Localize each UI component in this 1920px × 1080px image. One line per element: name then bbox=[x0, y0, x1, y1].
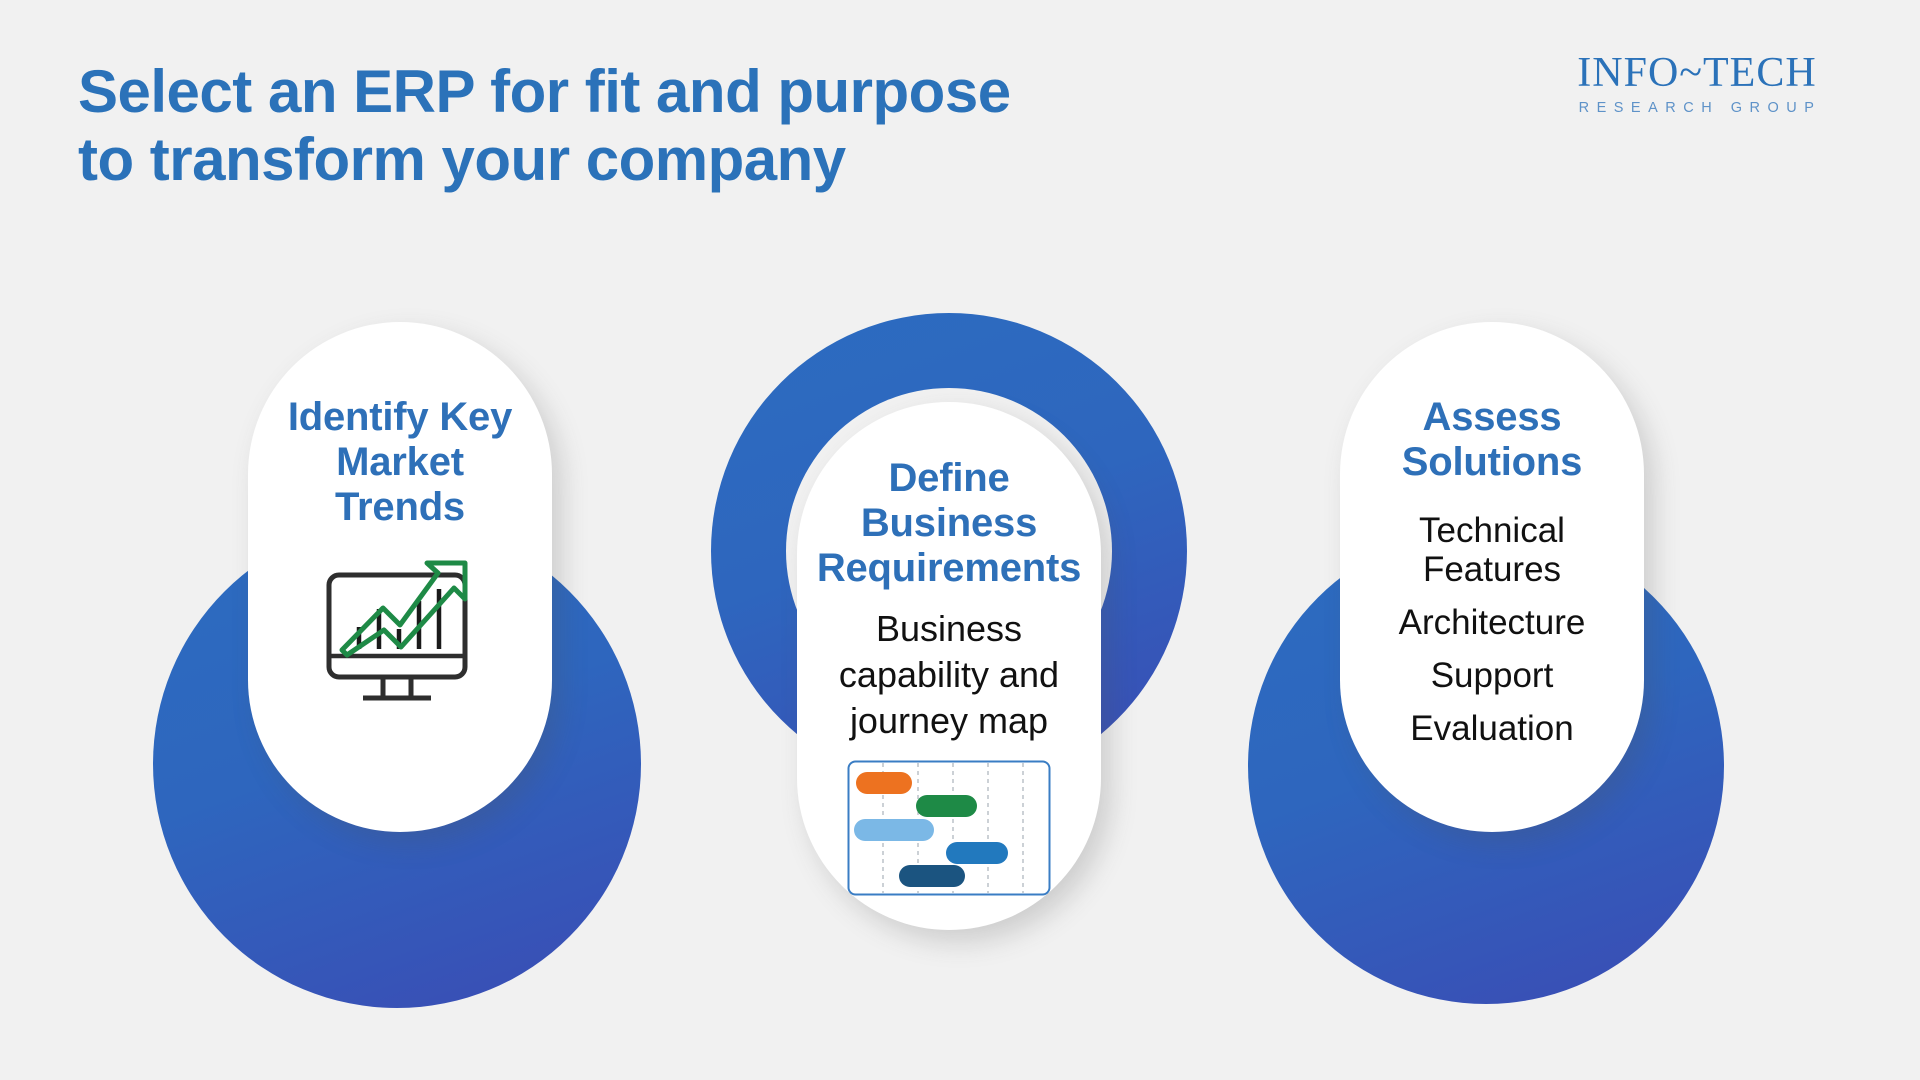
logo-wordmark: INFO~TECH bbox=[1532, 52, 1862, 94]
card-3-list: Technical Features Architecture Support … bbox=[1358, 511, 1626, 763]
logo-tagline: RESEARCH GROUP bbox=[1532, 100, 1862, 116]
page-title-line-1: Select an ERP for fit and purpose bbox=[78, 58, 1398, 126]
logo: INFO~TECH RESEARCH GROUP bbox=[1532, 52, 1862, 116]
list-item: Architecture bbox=[1358, 603, 1626, 642]
card-2-pill[interactable]: Define Business Requirements Business ca… bbox=[797, 402, 1101, 930]
card-1-pill[interactable]: Identify Key Market Trends bbox=[248, 322, 552, 832]
market-trend-monitor-icon bbox=[315, 551, 485, 716]
page-title: Select an ERP for fit and purpose to tra… bbox=[78, 58, 1398, 194]
slide-canvas: Select an ERP for fit and purpose to tra… bbox=[0, 0, 1920, 1080]
card-3-pill[interactable]: Assess Solutions Technical Features Arch… bbox=[1340, 322, 1644, 832]
card-2-body: Business capability and journey map bbox=[818, 606, 1080, 743]
list-item: Evaluation bbox=[1358, 709, 1626, 748]
gantt-chart-icon bbox=[847, 760, 1051, 901]
list-item: Support bbox=[1358, 656, 1626, 695]
list-item: Technical Features bbox=[1358, 511, 1626, 589]
page-title-line-2: to transform your company bbox=[78, 126, 1398, 194]
card-1-title: Identify Key Market Trends bbox=[268, 395, 532, 529]
card-3-title: Assess Solutions bbox=[1360, 395, 1624, 485]
card-2-title: Define Business Requirements bbox=[799, 456, 1099, 590]
